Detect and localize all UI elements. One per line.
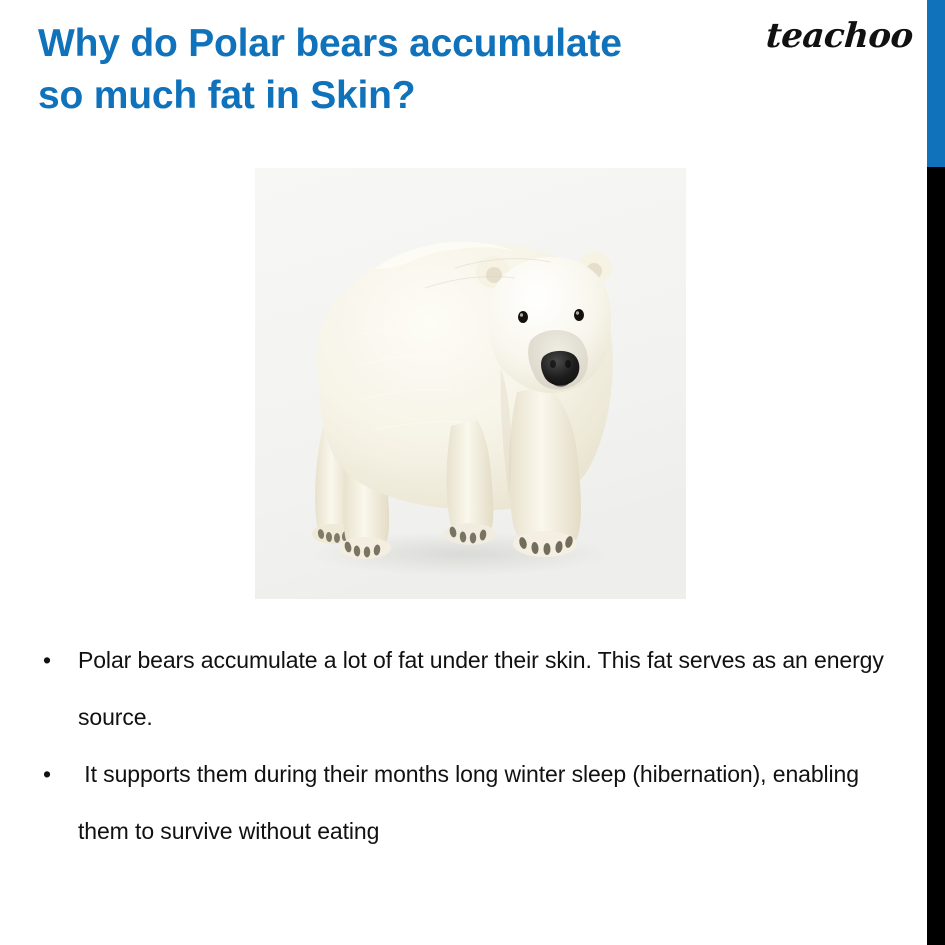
slide-canvas: Why do Polar bears accumulate so much fa… — [0, 0, 945, 945]
bullet-marker: • — [43, 632, 51, 689]
bullet-marker: • — [43, 746, 51, 803]
edge-bar-black — [927, 167, 945, 945]
teachoo-logo: teachoo — [761, 16, 919, 56]
list-item: • It supports them during their months l… — [30, 746, 890, 860]
list-item-text: It supports them during their months lon… — [78, 746, 890, 860]
page-title-line-2: so much fat in Skin? — [38, 70, 778, 122]
polar-bear-image — [255, 168, 686, 599]
list-item-text: Polar bears accumulate a lot of fat unde… — [78, 632, 890, 746]
polar-bear-illustration — [255, 168, 686, 599]
edge-bar-blue — [927, 0, 945, 167]
list-item: • Polar bears accumulate a lot of fat un… — [30, 632, 890, 746]
page-title: Why do Polar bears accumulate so much fa… — [38, 18, 778, 122]
bullet-list: • Polar bears accumulate a lot of fat un… — [30, 632, 890, 860]
page-title-line-1: Why do Polar bears accumulate — [38, 18, 778, 70]
